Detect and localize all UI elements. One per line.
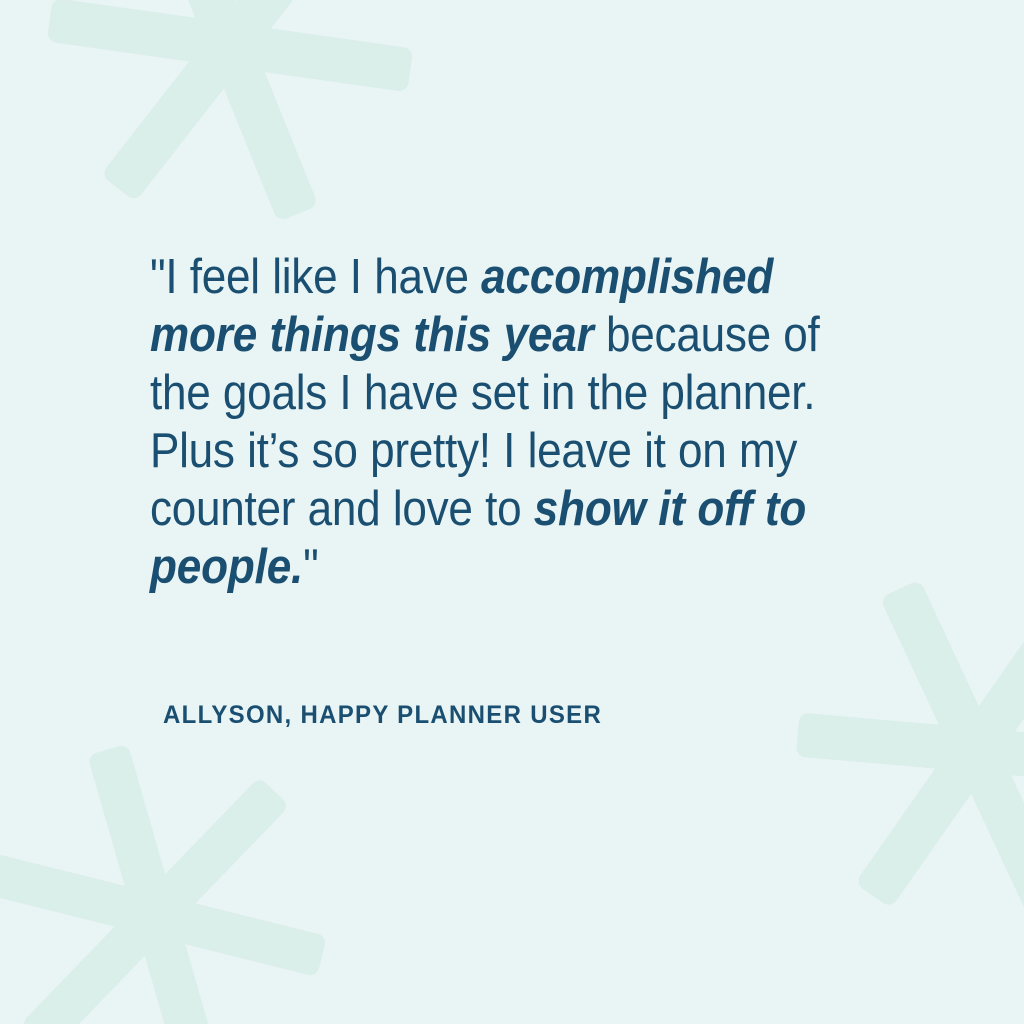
asterisk-arm bbox=[47, 0, 414, 92]
asterisk-arm bbox=[101, 0, 360, 202]
testimonial-card: "I feel like I have accomplished more th… bbox=[0, 0, 1024, 1024]
asterisk-arm bbox=[87, 744, 222, 1024]
asterisk-arm bbox=[20, 777, 289, 1024]
asterisk-bottom-left bbox=[0, 681, 389, 1024]
testimonial-quote: "I feel like I have accomplished more th… bbox=[150, 248, 834, 596]
asterisk-arm bbox=[141, 0, 318, 222]
asterisk-bottom-right bbox=[758, 533, 1024, 966]
quote-segment: " bbox=[303, 540, 318, 594]
quote-segment: "I feel like I have bbox=[150, 250, 481, 304]
asterisk-arm bbox=[855, 592, 1024, 909]
quote-block: "I feel like I have accomplished more th… bbox=[150, 248, 910, 596]
asterisk-arm bbox=[0, 853, 327, 977]
asterisk-top-left bbox=[0, 0, 460, 275]
asterisk-arm bbox=[796, 713, 1024, 788]
asterisk-arm bbox=[880, 579, 1024, 920]
testimonial-attribution: ALLYSON, HAPPY PLANNER USER bbox=[163, 699, 602, 731]
